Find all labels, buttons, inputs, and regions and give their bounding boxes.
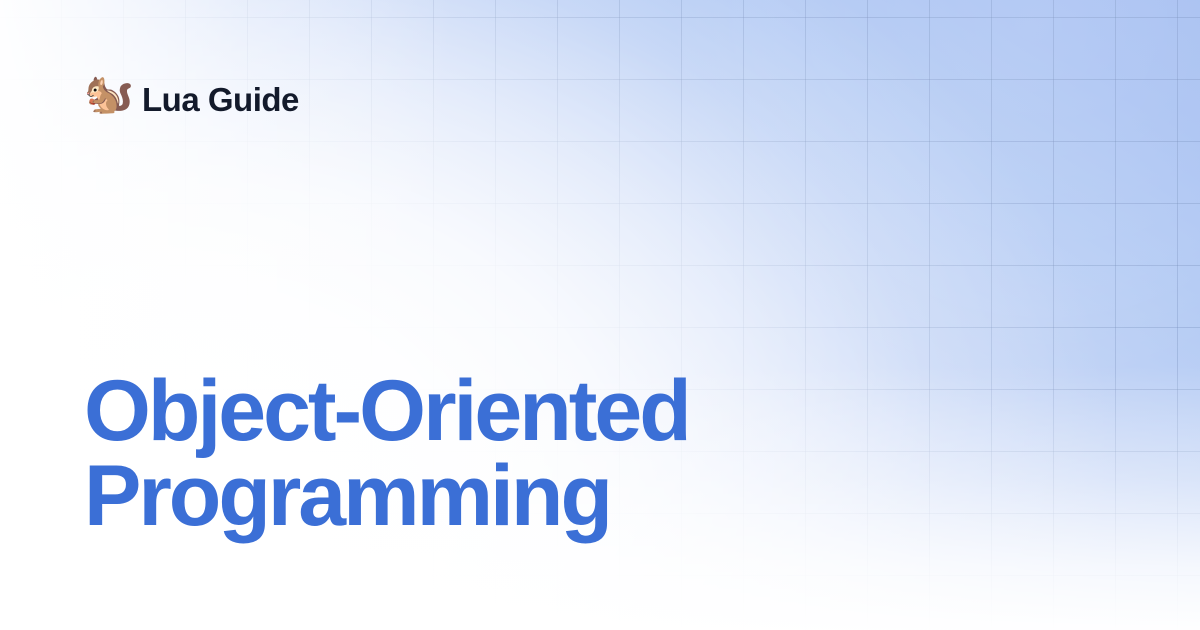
page-title: Object-Oriented Programming	[84, 369, 689, 538]
page-title-line-2: Programming	[84, 454, 689, 538]
brand-lockup: 🐿️ Lua Guide	[84, 74, 299, 126]
og-banner-card: 🐿️ Lua Guide Object-Oriented Programming	[0, 0, 1200, 630]
brand-name-label: Lua Guide	[142, 81, 299, 119]
banner-content: 🐿️ Lua Guide Object-Oriented Programming	[0, 0, 1200, 630]
squirrel-icon: 🐿️	[84, 74, 128, 126]
page-title-line-1: Object-Oriented	[84, 369, 689, 453]
